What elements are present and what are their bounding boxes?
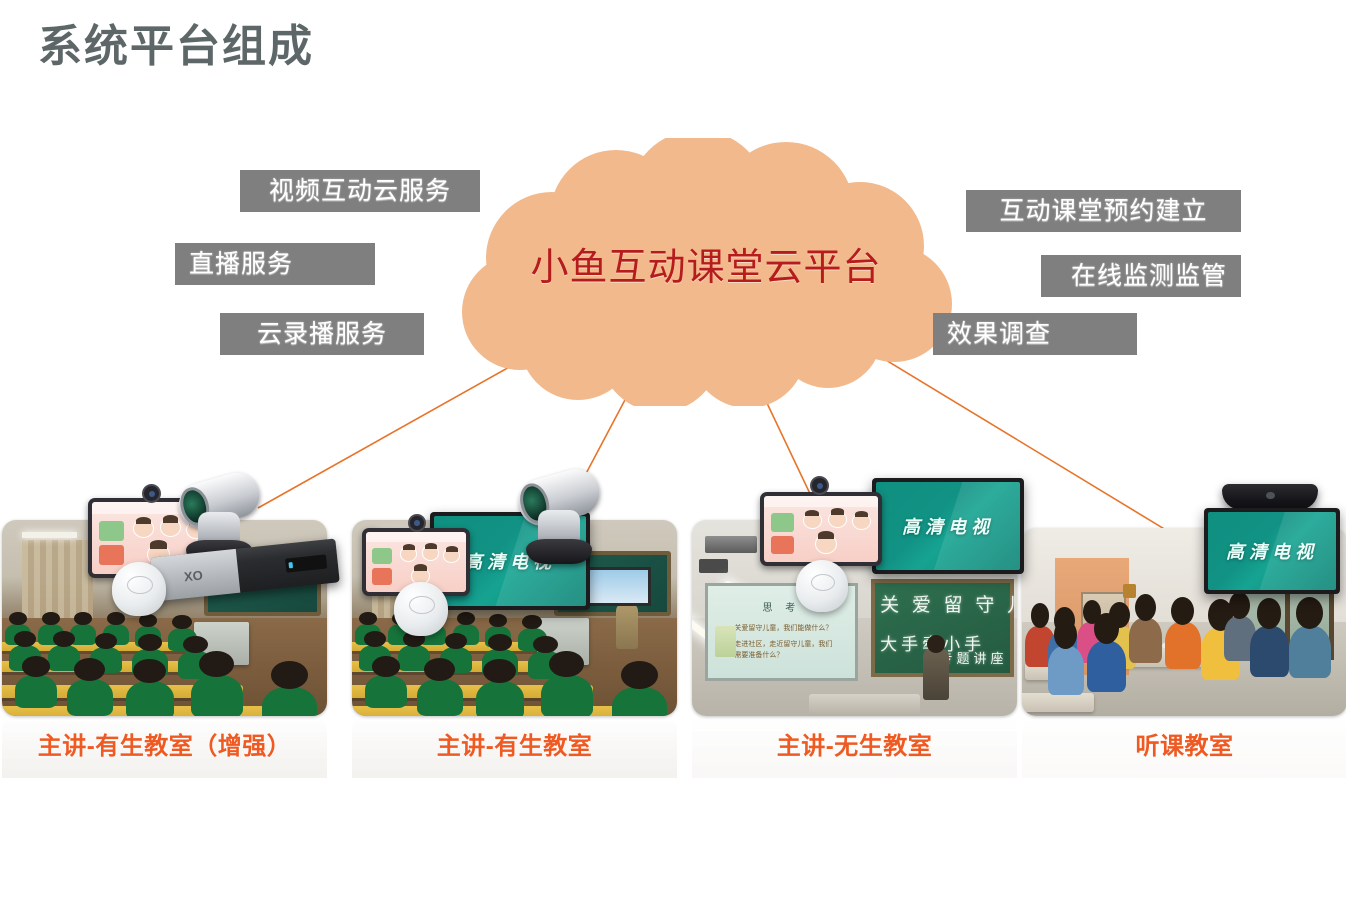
classroom-card-listening-room[interactable]: 高清电视 听课教室 [1022, 528, 1346, 778]
slide-line-3: 需要准备什么？ [734, 650, 783, 660]
slide-image [715, 626, 736, 657]
teacher-figure [616, 603, 638, 649]
classroom-caption: 听课教室 [1022, 726, 1346, 761]
projector [705, 536, 757, 554]
service-tag-live-streaming[interactable]: 直播服务 [175, 243, 375, 285]
hd-tv-device[interactable]: 高清电视 [1204, 508, 1340, 594]
wall-box [699, 559, 728, 573]
service-tag-online-monitoring[interactable]: 在线监测监管 [1041, 255, 1241, 297]
sound-bar-camera-device[interactable] [1222, 484, 1318, 510]
page-title: 系统平台组成 [38, 10, 314, 74]
front-desk [809, 694, 920, 716]
classroom-caption: 主讲-无生教室 [692, 726, 1017, 761]
classroom-caption: 主讲-有生教室（增强） [2, 726, 327, 761]
blackboard-line-3: 专题讲座 [940, 648, 1008, 667]
classroom-card-lecturer-with-students-enhanced[interactable]: XO 主讲-有生教室（增强） [2, 520, 327, 778]
slide-line-2: 走进社区，走近留守儿童，我们 [734, 639, 832, 649]
rack-logo: XO [183, 567, 203, 584]
trophy [1123, 584, 1136, 597]
slide-line-1: 关爱留守儿童，我们能做什么？ [734, 623, 832, 633]
slide-canvas: 系统平台组成 小鱼互动课堂云平台 视 [0, 0, 1346, 922]
speaker-ball-device[interactable] [796, 560, 848, 612]
front-screen [580, 567, 652, 606]
tablet-terminal-device[interactable] [760, 492, 882, 566]
service-tag-video-interaction-cloud[interactable]: 视频互动云服务 [240, 170, 480, 212]
service-tag-cloud-recording[interactable]: 云录播服务 [220, 313, 424, 355]
ptz-camera-device[interactable] [518, 474, 600, 564]
hd-tv-label: 高清电视 [1208, 538, 1336, 564]
classroom-card-lecturer-with-students[interactable]: 高清电视 主讲-有生教室 [352, 520, 677, 778]
cloud-label: 小鱼互动课堂云平台 [448, 236, 964, 291]
speaker-ball-device[interactable] [112, 562, 166, 616]
service-tag-effect-survey[interactable]: 效果调查 [933, 313, 1137, 355]
teacher-figure [923, 648, 949, 700]
cloud-shape: 小鱼互动课堂云平台 [448, 138, 964, 406]
speaker-ball-device[interactable] [394, 582, 448, 636]
service-tag-class-booking[interactable]: 互动课堂预约建立 [966, 190, 1241, 232]
tablet-camera-icon [812, 478, 827, 493]
classroom-caption: 主讲-有生教室 [352, 726, 677, 761]
classroom-card-lecturer-without-students[interactable]: 关 爱 留 守 儿 童 大手牵小手 专题讲座 思 考 关爱留守儿童，我们能做什么… [692, 520, 1017, 778]
hd-tv-label: 高清电视 [876, 513, 1020, 539]
blackboard-line-1: 关 爱 留 守 儿 童 [880, 590, 1017, 617]
tablet-camera-icon [410, 516, 424, 530]
hd-tv-device[interactable]: 高清电视 [872, 478, 1024, 574]
tablet-camera-icon [144, 486, 159, 501]
